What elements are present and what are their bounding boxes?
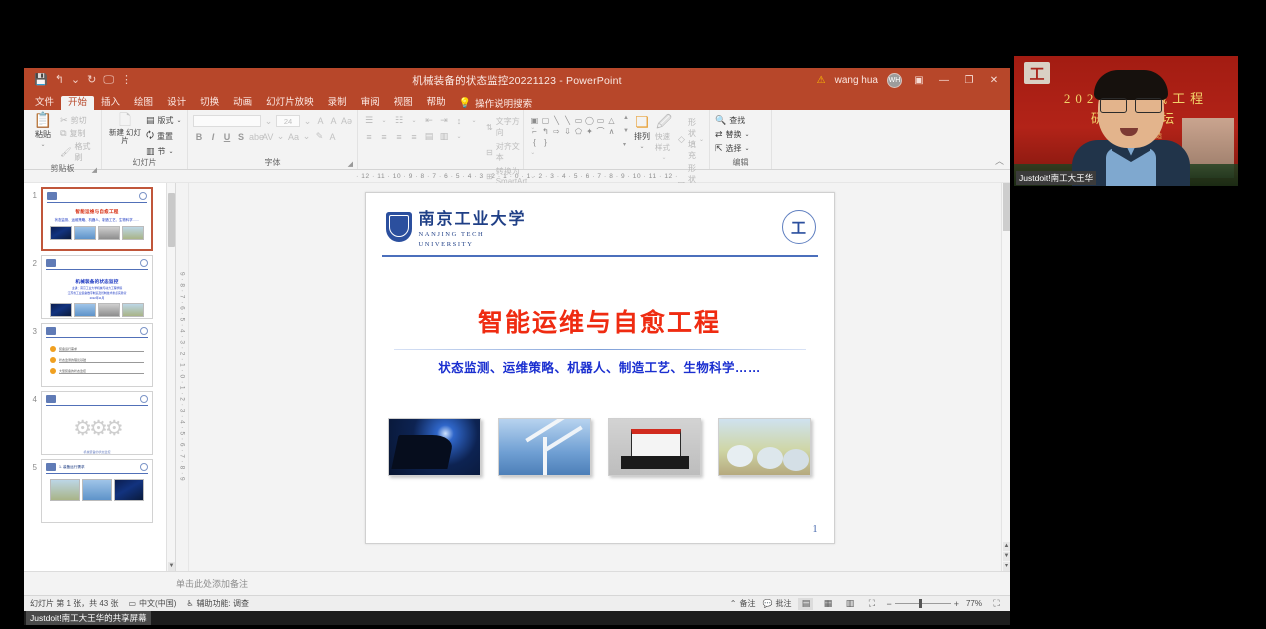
paintbrush-icon: 🖌 <box>60 147 71 158</box>
close-button[interactable]: ✕ <box>986 75 1002 86</box>
chevron-down-icon[interactable]: ⌄ <box>71 75 80 86</box>
divider <box>47 202 147 203</box>
cnc-image <box>98 226 120 240</box>
divider <box>46 269 148 270</box>
university-logo-icon <box>46 259 56 267</box>
shape-down-arrow-icon[interactable]: ⇩ <box>562 126 573 137</box>
shape-elbow-icon[interactable]: ⌐ <box>529 126 540 137</box>
thumbnail-card[interactable]: ⚙⚙⚙ 机械装备的状态监控 <box>41 391 153 455</box>
decrease-indent-button[interactable]: ⇤ <box>423 115 435 126</box>
chevron-down-icon[interactable]: ⌄ <box>468 117 480 124</box>
chevron-down-icon[interactable]: ⌄ <box>301 131 312 142</box>
paste-label: 粘贴 <box>35 129 51 140</box>
ribbon-group-paragraph: ☰ ⌄ ☷ ⌄ ⇤ ⇥ ↕ ⌄ ≡ ≡ ≡ <box>358 110 524 169</box>
scrollbar-thumb[interactable] <box>168 193 175 247</box>
cnc-image <box>98 303 120 317</box>
thumbnail-number: 1 <box>28 187 37 200</box>
arrange-button[interactable]: ❏ 排列 ⌄ <box>634 115 650 150</box>
thumb-caption: 机械装备的状态监控 <box>42 450 152 454</box>
title-bar-right: ⚠ wang hua WH ▣ — ❐ ✕ <box>817 73 1010 88</box>
quick-styles-button[interactable]: 🖉 快速样式 ⌄ <box>655 115 673 161</box>
arrange-icon: ❏ <box>635 115 648 130</box>
chevron-down-icon[interactable]: ⌄ <box>275 131 286 142</box>
thumb-subtitle: 主讲：南京工业大学机械与动力工程学院 <box>42 286 152 290</box>
zoom-level-label[interactable]: 77% <box>966 599 982 608</box>
chevron-down-icon[interactable]: ⌄ <box>263 116 274 127</box>
start-slideshow-icon[interactable]: 🖵 <box>103 75 114 86</box>
thumb-bullets: 装备运行需求 状态监测的理论基础 大型装备的状态监控 <box>42 338 152 374</box>
zoom-track[interactable] <box>895 603 951 604</box>
font-row-1: ⌄ 24 ⌄ A A Aə <box>193 115 352 127</box>
character-spacing-button[interactable]: AV <box>262 132 273 142</box>
lightbulb-icon: 💡 <box>459 98 471 109</box>
university-logo: 南京工业大学 NANJING TECH UNIVERSITY <box>386 205 527 249</box>
thumb-header <box>42 324 152 336</box>
italic-button[interactable]: I <box>207 132 219 142</box>
redo-icon[interactable]: ↻ <box>87 75 96 86</box>
tab-draw[interactable]: 绘图 <box>127 96 160 111</box>
status-bar-right: ⌃ 备注 💬 批注 ▤ ▦ ▥ ⛶ − + 77% <box>730 598 1004 610</box>
fill-bucket-icon: ◇ <box>678 134 685 145</box>
reset-icon: 🗘 <box>146 128 154 144</box>
accessibility-label: 辅助功能: 调查 <box>197 598 249 609</box>
reset-label: 重置 <box>157 131 173 142</box>
thumbnail-card[interactable]: 1. 装备运行需求 <box>41 459 153 523</box>
justify-button[interactable]: ≡ <box>408 132 420 142</box>
title-divider <box>394 349 806 350</box>
tab-file[interactable]: 文件 <box>28 96 61 111</box>
align-left-button[interactable]: ≡ <box>363 132 375 142</box>
header-divider <box>382 255 818 257</box>
grow-font-button[interactable]: A <box>315 116 326 126</box>
thumb-header-text: 1. 装备运行需求 <box>59 465 85 470</box>
numbering-button[interactable]: ☷ <box>393 115 405 126</box>
chevron-down-icon[interactable]: ⌄ <box>639 143 644 150</box>
paragraph-row-2: ≡ ≡ ≡ ≡ ▤ ▥ ⌄ <box>363 131 480 142</box>
scissors-icon: ✂ <box>60 115 68 126</box>
solar-image <box>50 303 72 317</box>
collapse-ribbon-icon[interactable]: ︿ <box>995 154 1004 167</box>
bullet-text: 大型装备的状态监控 <box>59 369 144 374</box>
thumb-title: 机械装备的状态监控 <box>42 279 152 285</box>
bullet-icon <box>50 346 56 352</box>
text-direction-icon: ⇅ <box>486 123 493 132</box>
select-label: 选择 <box>726 143 742 154</box>
bullet-icon <box>50 368 56 374</box>
columns-button[interactable]: ▥ <box>438 131 450 142</box>
bullet-text: 状态监测的理论基础 <box>59 358 144 363</box>
notes-button[interactable]: ⌃ 备注 <box>730 598 756 609</box>
slide-header: 南京工业大学 NANJING TECH UNIVERSITY 工 <box>366 193 834 249</box>
font-color-button[interactable]: A <box>327 132 338 142</box>
bold-button[interactable]: B <box>193 132 205 142</box>
thumb-images <box>43 226 151 240</box>
participant-name-label: Justdoit!南工大王华 <box>1016 171 1096 185</box>
thumb-header: 1. 装备运行需求 <box>42 460 152 472</box>
align-right-button[interactable]: ≡ <box>393 132 405 142</box>
shape-rect-icon[interactable]: ▢ <box>540 115 551 126</box>
avatar[interactable]: WH <box>887 73 902 88</box>
layout-button[interactable]: ▤ 版式 ⌄ <box>146 115 182 126</box>
tab-insert[interactable]: 插入 <box>94 96 127 111</box>
comments-button[interactable]: 💬 批注 <box>762 598 791 609</box>
thumbnail-number: 4 <box>28 391 37 404</box>
find-button[interactable]: 🔍 查找 <box>715 115 750 126</box>
find-label: 查找 <box>729 115 745 126</box>
clear-formatting-button[interactable]: Aə <box>341 116 352 126</box>
university-name-en-1: NANJING TECH <box>419 230 527 239</box>
active-slide[interactable]: 南京工业大学 NANJING TECH UNIVERSITY 工 智能运维与自愈… <box>365 192 835 544</box>
tab-slideshow[interactable]: 幻灯片放映 <box>259 96 321 111</box>
thumbnail-card[interactable]: 机械装备的状态监控 主讲：南京工业大学机械与动力工程学院 江苏省工业装备数字制造… <box>41 255 153 319</box>
conference-logo-icon: 工 <box>1024 62 1050 84</box>
ribbon-body: 📋 粘贴 ⌄ ✂ 剪切 ⧉ 复制 � <box>24 110 1010 170</box>
cnc-machine-photo[interactable] <box>608 418 701 476</box>
title-bar: 💾 ↰ ⌄ ↻ 🖵 ⋮ 机械装备的状态监控20221123 - PowerPoi… <box>24 68 1010 92</box>
plant-image <box>122 226 144 240</box>
status-bar: 幻灯片 第 1 张，共 43 张 ▭ 中文(中国) ♿ 辅助功能: 调查 ⌃ 备… <box>24 595 1010 611</box>
slideshow-icon[interactable]: ⛶ <box>864 598 879 610</box>
warning-icon: ⚠ <box>817 75 826 86</box>
shape-star-icon[interactable]: ✦ <box>584 126 595 137</box>
tab-view[interactable]: 视图 <box>387 96 420 111</box>
refinery-image <box>114 479 144 501</box>
university-name-cn: 南京工业大学 <box>419 205 527 229</box>
format-painter-label: 格式刷 <box>75 141 97 163</box>
university-emblem-icon <box>139 192 147 200</box>
chevron-down-icon[interactable]: ⌄ <box>745 145 750 152</box>
tab-record[interactable]: 录制 <box>321 96 354 111</box>
slide-sorter-icon[interactable]: ▦ <box>820 598 835 610</box>
language-icon: ▭ <box>128 599 136 608</box>
scrollbar-thumb[interactable] <box>1003 183 1010 231</box>
clipboard-label-text: 剪贴板 <box>51 164 75 173</box>
quick-styles-label: 快速样式 <box>655 131 673 153</box>
shape-rounded-rect-icon[interactable]: ▭ <box>595 115 606 126</box>
cut-label: 剪切 <box>71 115 87 126</box>
university-logo-icon <box>46 395 56 403</box>
thumb-images <box>42 479 152 501</box>
layout-label: 版式 <box>158 115 174 126</box>
format-painter-button[interactable]: 🖌 格式刷 <box>60 141 96 163</box>
bullet-item: 装备运行需求 <box>50 346 144 352</box>
thumb-header <box>42 392 152 404</box>
user-name[interactable]: wang hua <box>835 75 878 86</box>
chevron-down-icon[interactable]: ⌄ <box>699 136 704 143</box>
arrange-label: 排列 <box>634 131 650 142</box>
person-hair <box>1094 70 1168 100</box>
replace-button[interactable]: ⇄ 替换 ⌄ <box>715 129 750 140</box>
replace-label: 替换 <box>726 129 742 140</box>
font-label-text: 字体 <box>265 158 281 167</box>
chevron-down-icon[interactable]: ⌄ <box>378 117 390 124</box>
shape-square-icon[interactable]: ▭ <box>573 115 584 126</box>
scroll-down-icon[interactable]: ▼ <box>168 562 175 571</box>
screen-share-bar: Justdoit!南工大王华的共享屏幕 <box>24 611 1010 625</box>
ribbon-group-drawing: ▣ ▢ ╲ ╲ ▭ ◯ ▭ △ ⌐ ↰ ⇨ ⇩ ⬠ ✦ ⌒ <box>524 110 710 169</box>
layout-icon: ▤ <box>146 115 155 126</box>
next-slide-button[interactable]: ▼ <box>1003 552 1010 561</box>
vertical-ruler: 9 · 8 · 7 · 6 · 5 · 4 · 3 · 2 · 1 · 0 · … <box>176 183 189 571</box>
restore-button[interactable]: ❐ <box>961 75 977 86</box>
tab-animations[interactable]: 动画 <box>226 96 259 111</box>
glasses-icon <box>1100 98 1162 111</box>
shape-triangle-icon[interactable]: △ <box>606 115 617 126</box>
strikethrough-button[interactable]: abe <box>249 132 260 142</box>
thumbnail-slide-5[interactable]: 5 1. 装备运行需求 <box>24 455 175 523</box>
bullet-item: 状态监测的理论基础 <box>50 357 144 363</box>
solar-image <box>50 226 72 240</box>
cursor-select-icon: ⇱ <box>715 143 723 154</box>
thumbnail-slide-2[interactable]: 2 机械装备的状态监控 主讲：南京工业大学机械与动力工程学院 江苏省工业装备数字… <box>24 251 175 319</box>
slide-stage: 南京工业大学 NANJING TECH UNIVERSITY 工 智能运维与自愈… <box>189 183 1010 571</box>
vertical-ruler-ticks: 9 · 8 · 7 · 6 · 5 · 4 · 3 · 2 · 1 · 0 · … <box>179 272 186 481</box>
section-icon: ▥ <box>146 146 155 157</box>
copy-button[interactable]: ⧉ 复制 <box>60 128 96 139</box>
align-text-icon: ⊟ <box>486 148 493 157</box>
chevron-down-icon[interactable]: ⌄ <box>745 131 750 138</box>
video-overlay[interactable]: 工 2022年第 械工程 研究 论坛 以机械智能制造 Justdoit!南工大王… <box>1014 56 1238 186</box>
reading-view-icon[interactable]: ▥ <box>842 598 857 610</box>
shape-arrow-icon[interactable]: ╲ <box>562 115 573 126</box>
shape-wedge-icon[interactable]: ∧ <box>606 126 617 137</box>
language-label: 中文(中国) <box>139 598 176 609</box>
chevron-down-icon[interactable]: ⌄ <box>302 116 313 127</box>
dialog-launcher-icon[interactable]: ◢ <box>92 166 97 174</box>
ribbon-group-font: ⌄ 24 ⌄ A A Aə B I U S abe AV ⌄ <box>188 110 358 169</box>
shadow-button[interactable]: S <box>235 132 247 142</box>
bullet-text: 装备运行需求 <box>59 347 144 352</box>
university-logo-icon <box>46 463 56 471</box>
new-slide-icon: 🗋 <box>119 113 131 128</box>
thumbnail-slide-1[interactable]: 1 智能运维与自愈工程 状态监测、运维策略、机器人、制造工艺、生物科学…… <box>24 183 175 251</box>
bullet-item: 大型装备的状态监控 <box>50 368 144 374</box>
zoom-slider[interactable]: − + <box>886 599 959 609</box>
wind-image <box>74 226 96 240</box>
ribbon-group-editing: 🔍 查找 ⇄ 替换 ⌄ ⇱ 选择 ⌄ <box>710 110 772 169</box>
clipboard-group-label: 剪贴板 ◢ <box>29 163 96 175</box>
wind-turbine-photo[interactable] <box>498 418 591 476</box>
shape-right-arrow-icon[interactable]: ⇨ <box>551 126 562 137</box>
tell-me-label: 操作说明搜索 <box>475 96 532 110</box>
text-direction-label: 文字方向 <box>496 116 528 138</box>
quick-styles-icon: 🖉 <box>656 115 672 130</box>
thumb-subtitle-2: 江苏省工业装备数字制造及控制技术重点实验室 <box>42 291 152 295</box>
align-text-label: 对齐文本 <box>496 141 528 163</box>
bullet-icon <box>50 357 56 363</box>
city-image <box>50 479 80 501</box>
thumbnail-number: 2 <box>28 255 37 268</box>
chevron-down-icon[interactable]: ⌄ <box>453 133 465 140</box>
thumb-subtitle-3: 2022年11月 <box>42 296 152 300</box>
university-emblem-icon <box>140 395 148 403</box>
thumb-title: 智能运维与自愈工程 <box>43 209 151 215</box>
shape-oval-icon[interactable]: ◯ <box>584 115 595 126</box>
copy-label: 复制 <box>70 128 86 139</box>
underline-button[interactable]: U <box>221 132 233 142</box>
tell-me-search[interactable]: 💡 操作说明搜索 <box>459 96 532 110</box>
thumbnail-number: 3 <box>28 323 37 336</box>
reset-button[interactable]: 🗘 重置 <box>146 128 182 144</box>
thumb-images <box>42 303 152 317</box>
work-area: 1 智能运维与自愈工程 状态监测、运维策略、机器人、制造工艺、生物科学…… <box>24 183 1010 571</box>
thumbnail-number: 5 <box>28 459 37 472</box>
align-center-button[interactable]: ≡ <box>378 132 390 142</box>
thumbnail-card[interactable]: 装备运行需求 状态监测的理论基础 大型装备的状态监控 <box>41 323 153 387</box>
wind-image <box>74 303 96 317</box>
ribbon-group-slides: 🗋 新建 幻灯片 ▤ 版式 ⌄ 🗘 重置 <box>102 110 188 169</box>
dialog-launcher-icon[interactable]: ◢ <box>348 160 353 168</box>
thumbnail-scrollbar[interactable]: ▼ <box>166 183 175 571</box>
tab-help[interactable]: 帮助 <box>420 96 453 111</box>
thumbnail-slide-4[interactable]: 4 ⚙⚙⚙ 机械装备的状态监控 <box>24 387 175 455</box>
minimize-button[interactable]: — <box>936 75 952 86</box>
notes-pane[interactable]: 单击此处添加备注 <box>24 571 1010 595</box>
search-icon: 🔍 <box>715 115 726 126</box>
slide-count-label: 幻灯片 第 1 张，共 43 张 <box>30 598 118 609</box>
shape-fill-label: 形状填充 <box>688 117 696 161</box>
ribbon-display-options-icon[interactable]: ▣ <box>911 75 927 86</box>
scroll-up-icon[interactable]: ▲ <box>623 115 629 121</box>
editing-group-label: 编辑 <box>715 157 766 169</box>
university-emblem-icon <box>140 463 148 471</box>
screen-root: 💾 ↰ ⌄ ↻ 🖵 ⋮ 机械装备的状态监控20221123 - PowerPoi… <box>0 0 1266 629</box>
status-bar-left: 幻灯片 第 1 张，共 43 张 ▭ 中文(中国) ♿ 辅助功能: 调查 <box>30 598 249 609</box>
increase-indent-button[interactable]: ⇥ <box>438 115 450 126</box>
ribbon-tab-bar[interactable]: 文件 开始 插入 绘图 设计 切换 动画 幻灯片放映 录制 审阅 视图 帮助 💡… <box>24 92 1010 110</box>
zoom-handle[interactable] <box>919 599 922 608</box>
university-emblem-icon <box>140 259 148 267</box>
university-logo-icon <box>47 192 57 200</box>
distribute-button[interactable]: ▤ <box>423 131 435 142</box>
paragraph-row-1: ☰ ⌄ ☷ ⌄ ⇤ ⇥ ↕ ⌄ <box>363 115 480 126</box>
university-name-en-2: UNIVERSITY <box>419 240 527 249</box>
chevron-down-icon[interactable]: ⌄ <box>177 117 182 124</box>
wind-image <box>82 479 112 501</box>
normal-view-icon[interactable]: ▤ <box>798 598 813 610</box>
shape-textbox-icon[interactable]: ▣ <box>529 115 540 126</box>
solar-concentrator-photo[interactable] <box>388 418 481 476</box>
customize-qat-icon[interactable]: ⋮ <box>121 75 132 86</box>
shapes-scroll-buttons[interactable]: ▲ ▼ ▾ <box>622 115 629 148</box>
copy-icon: ⧉ <box>60 128 66 139</box>
gear-graphic-icon: ⚙⚙⚙ <box>42 406 152 450</box>
shape-line-icon[interactable]: ╲ <box>551 115 562 126</box>
change-case-button[interactable]: Aa <box>288 132 299 142</box>
person-shirt <box>1106 148 1156 186</box>
chevron-down-icon[interactable]: ⌄ <box>41 141 46 148</box>
font-name-input[interactable] <box>193 115 261 127</box>
slide-subtitle[interactable]: 状态监测、运维策略、机器人、制造工艺、生物科学…… <box>366 357 834 376</box>
thumb-subtitle: 状态监测、运维策略、机器人、制造工艺、生物科学…… <box>43 217 151 222</box>
shape-right-brace-icon[interactable]: } <box>540 137 551 148</box>
fit-slide-icon[interactable]: ⛶ <box>989 598 1004 610</box>
accessibility-indicator[interactable]: ♿ 辅助功能: 调查 <box>186 598 249 609</box>
tab-transitions[interactable]: 切换 <box>193 96 226 111</box>
shape-curve-icon[interactable]: ↰ <box>540 126 551 137</box>
slide-page-number: 1 <box>813 524 818 535</box>
university-crest-icon <box>386 212 412 242</box>
thumbnail-slide-3[interactable]: 3 装备运行需求 <box>24 319 175 387</box>
accessibility-icon: ♿ <box>186 599 193 608</box>
undo-icon[interactable]: ↰ <box>55 75 64 86</box>
chevron-down-icon[interactable]: ⌄ <box>408 117 420 124</box>
slides-group-label: 幻灯片 <box>107 157 182 169</box>
slide-title[interactable]: 智能运维与自愈工程 <box>366 303 834 339</box>
petrochemical-plant-photo[interactable] <box>718 418 811 476</box>
shapes-gallery[interactable]: ▣ ▢ ╲ ╲ ▭ ◯ ▭ △ ⌐ ↰ ⇨ ⇩ ⬠ ✦ ⌒ <box>529 115 617 148</box>
scroll-down-icon[interactable]: ▾ <box>1003 562 1010 571</box>
thumb-header <box>43 189 151 201</box>
new-slide-button[interactable]: 🗋 新建 幻灯片 <box>107 113 143 145</box>
notes-label: 备注 <box>739 598 755 609</box>
university-emblem-icon <box>140 327 148 335</box>
bullets-button[interactable]: ☰ <box>363 115 375 126</box>
previous-slide-button[interactable]: ▲ <box>1003 542 1010 551</box>
shape-left-brace-icon[interactable]: { <box>529 137 540 148</box>
cut-button[interactable]: ✂ 剪切 <box>60 115 96 126</box>
tab-home[interactable]: 开始 <box>61 96 94 111</box>
comments-label: 批注 <box>775 598 791 609</box>
clipboard-icon: 📋 <box>34 113 53 128</box>
replace-icon: ⇄ <box>715 129 723 140</box>
shape-arc-icon[interactable]: ⌒ <box>595 126 606 137</box>
chevron-down-icon[interactable]: ⌄ <box>662 154 667 161</box>
font-row-2: B I U S abe AV ⌄ Aa ⌄ ✎ A <box>193 131 338 142</box>
zoom-out-button[interactable]: − <box>886 599 891 609</box>
notes-icon: ⌃ <box>730 599 737 608</box>
participant-video <box>1072 70 1190 186</box>
save-icon[interactable]: 💾 <box>34 75 48 86</box>
tab-review[interactable]: 审阅 <box>354 96 387 111</box>
plant-image <box>122 303 144 317</box>
ribbon-group-clipboard: 📋 粘贴 ⌄ ✂ 剪切 ⧉ 复制 � <box>24 110 102 169</box>
shape-fill-button[interactable]: ◇ 形状填充 ⌄ <box>678 117 704 161</box>
font-size-input[interactable]: 24 <box>276 115 300 127</box>
line-spacing-button[interactable]: ↕ <box>453 116 465 126</box>
slide-thumbnail-pane[interactable]: 1 智能运维与自愈工程 状态监测、运维策略、机器人、制造工艺、生物科学…… <box>24 183 176 571</box>
tab-design[interactable]: 设计 <box>160 96 193 111</box>
select-button[interactable]: ⇱ 选择 ⌄ <box>715 143 750 154</box>
university-logo-icon <box>46 327 56 335</box>
shapes-more-icon[interactable]: ▾ <box>623 141 629 148</box>
thumbnail-card[interactable]: 智能运维与自愈工程 状态监测、运维策略、机器人、制造工艺、生物科学…… <box>41 187 153 251</box>
divider <box>46 473 148 474</box>
text-highlight-button[interactable]: ✎ <box>314 131 325 142</box>
shrink-font-button[interactable]: A <box>328 116 339 126</box>
comment-icon: 💬 <box>762 599 772 608</box>
new-slide-label: 新建 幻灯片 <box>107 129 143 145</box>
font-group-label: 字体 ◢ <box>193 157 352 169</box>
quick-access-toolbar[interactable]: 💾 ↰ ⌄ ↻ 🖵 ⋮ <box>24 75 132 86</box>
section-button[interactable]: ▥ 节 ⌄ <box>146 146 182 157</box>
thumb-header <box>42 256 152 268</box>
stage-scrollbar[interactable]: ▲ ▼ ▾ <box>1001 183 1010 571</box>
language-indicator[interactable]: ▭ 中文(中国) <box>128 598 176 609</box>
smartart-icon: ⊞ <box>486 172 493 181</box>
share-status-label: Justdoit!南工大王华的共享屏幕 <box>26 611 151 625</box>
slide-images <box>366 418 834 476</box>
paste-button[interactable]: 📋 粘贴 ⌄ <box>29 113 57 148</box>
zoom-in-button[interactable]: + <box>954 599 959 609</box>
university-emblem-icon: 工 <box>782 210 816 244</box>
section-label: 节 <box>158 146 166 157</box>
powerpoint-window: 💾 ↰ ⌄ ↻ 🖵 ⋮ 机械装备的状态监控20221123 - PowerPoi… <box>24 68 1010 611</box>
chevron-down-icon[interactable]: ⌄ <box>169 148 174 155</box>
scroll-down-icon[interactable]: ▼ <box>623 128 629 134</box>
shape-pentagon-icon[interactable]: ⬠ <box>573 126 584 137</box>
